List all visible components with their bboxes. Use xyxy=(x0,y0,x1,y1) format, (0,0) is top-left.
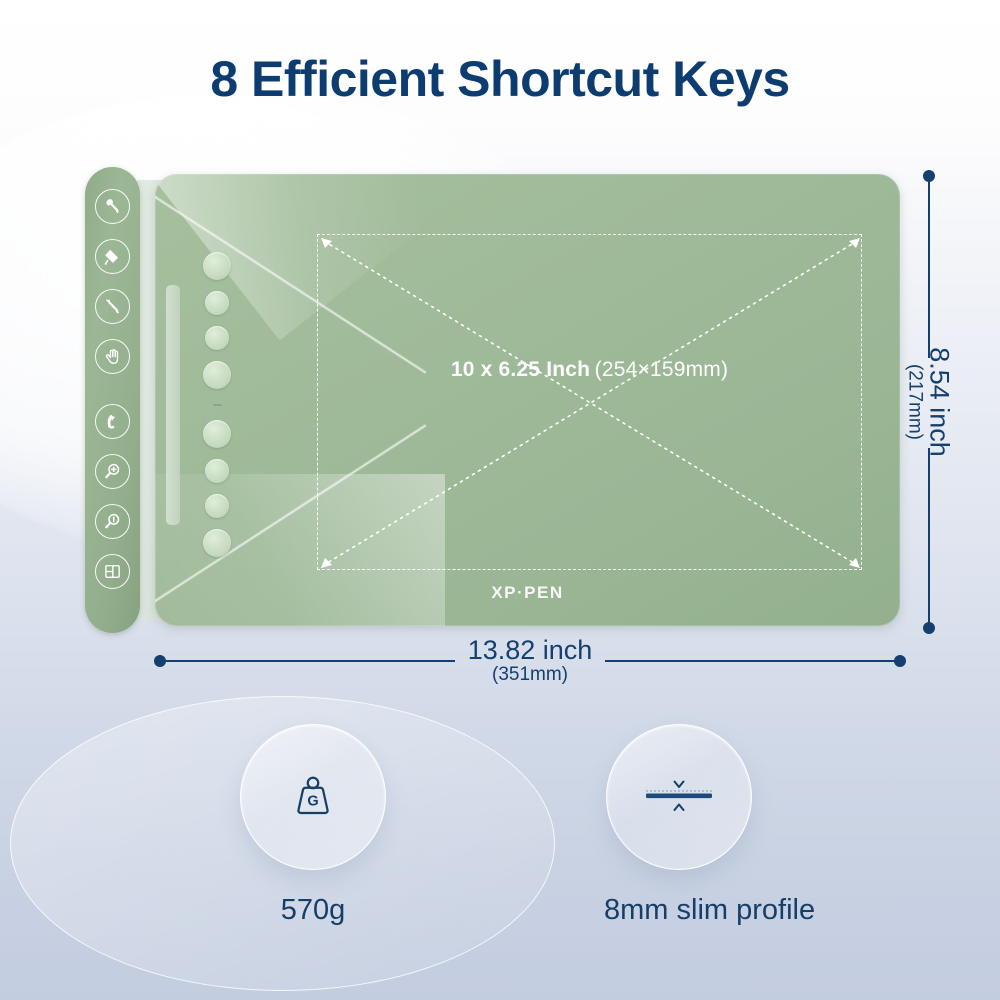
paint-bucket-icon[interactable] xyxy=(95,239,130,274)
tablet-button-3[interactable] xyxy=(205,326,229,350)
height-label: 8.54 inch (217mm) xyxy=(904,347,955,457)
tablet-body: 10 x 6.25 Inch (254×159mm) XP·PEN xyxy=(155,174,900,626)
thickness-caption: 8mm slim profile xyxy=(604,894,754,927)
tablet-button-column xyxy=(203,252,231,557)
tablet-button-2[interactable] xyxy=(205,291,229,315)
active-drawing-area xyxy=(317,234,862,570)
undo-arrow-icon[interactable] xyxy=(95,404,130,439)
tablet-illustration: 10 x 6.25 Inch (254×159mm) XP·PEN 8.54 i… xyxy=(0,0,1000,700)
tablet-button-5[interactable] xyxy=(203,420,231,448)
brand-logo: XP·PEN xyxy=(155,583,900,603)
layout-panel-icon[interactable] xyxy=(95,554,130,589)
tablet-button-8[interactable] xyxy=(203,529,231,557)
height-line-bottom xyxy=(928,448,930,628)
width-endpoint-right xyxy=(894,655,906,667)
shortcut-key-strip xyxy=(85,167,140,633)
tablet-button-6[interactable] xyxy=(205,459,229,483)
hand-icon[interactable] xyxy=(95,339,130,374)
size-inch: 10 x 6.25 Inch xyxy=(451,358,590,381)
button-group-divider xyxy=(213,400,222,409)
eyedropper-icon[interactable] xyxy=(95,289,130,324)
height-endpoint-bottom xyxy=(923,622,935,634)
tablet-port-strip xyxy=(166,285,180,525)
size-mm: (254×159mm) xyxy=(595,358,729,381)
tablet-button-4[interactable] xyxy=(203,361,231,389)
feature-weight: G 570g xyxy=(238,724,388,927)
width-dimension: 13.82 inch (351mm) xyxy=(160,660,900,662)
width-line-left xyxy=(160,660,455,662)
height-inch: 8.54 inch xyxy=(924,347,955,457)
tablet-button-1[interactable] xyxy=(203,252,231,280)
width-endpoint-left xyxy=(154,655,166,667)
weight-bubble: G xyxy=(240,724,386,870)
width-line-right xyxy=(605,660,900,662)
weight-caption: 570g xyxy=(238,894,388,927)
height-mm: (217mm) xyxy=(904,347,926,457)
brush-icon[interactable] xyxy=(95,189,130,224)
thickness-icon xyxy=(636,771,722,823)
feature-thickness: 8mm slim profile xyxy=(604,724,754,927)
weight-icon: G xyxy=(282,766,344,828)
width-mm: (351mm) xyxy=(468,664,593,686)
diagonal-guides xyxy=(318,235,863,571)
width-label: 13.82 inch (351mm) xyxy=(468,636,593,686)
thickness-bubble xyxy=(606,724,752,870)
tablet-button-7[interactable] xyxy=(205,494,229,518)
height-dimension: 8.54 inch (217mm) xyxy=(928,176,930,628)
height-endpoint-top xyxy=(923,170,935,182)
zoom-in-icon[interactable] xyxy=(95,454,130,489)
svg-text:G: G xyxy=(307,794,318,810)
zoom-out-icon[interactable] xyxy=(95,504,130,539)
active-area-size-label: 10 x 6.25 Inch (254×159mm) xyxy=(317,357,862,383)
height-line-top xyxy=(928,176,930,358)
width-inch: 13.82 inch xyxy=(468,636,593,664)
